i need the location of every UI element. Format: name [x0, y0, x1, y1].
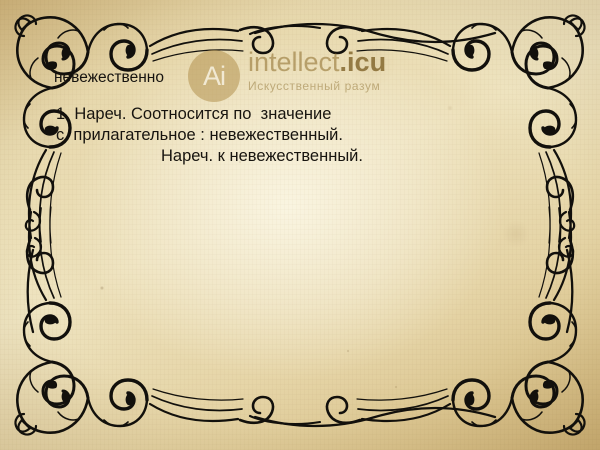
paper-stain-texture [0, 0, 600, 450]
definition-line: Нареч. к невежественный. [56, 146, 556, 167]
ai-badge-icon: Ai [188, 50, 240, 102]
watermark-brand-name: intellect [248, 47, 340, 77]
watermark-brand: intellect.icu [248, 48, 386, 76]
ornamental-border-frame [0, 0, 600, 450]
definition-block: 1. Нареч. Соотносится по значение с прил… [56, 104, 556, 167]
ai-badge-label: Ai [203, 63, 225, 90]
watermark: Ai intellect.icu Искусственный разум [188, 46, 386, 102]
paper-fiber-texture [0, 0, 600, 450]
watermark-brand-tld: .icu [340, 47, 387, 77]
definition-line: 1. Нареч. Соотносится по значение [56, 104, 556, 125]
dictionary-card: Ai intellect.icu Искусственный разум нев… [0, 0, 600, 450]
headword: невежественно [54, 70, 164, 86]
watermark-tagline: Искусственный разум [248, 79, 386, 93]
watermark-text: intellect.icu Искусственный разум [248, 48, 386, 93]
definition-line: с прилагательное : невежественный. [56, 125, 556, 146]
